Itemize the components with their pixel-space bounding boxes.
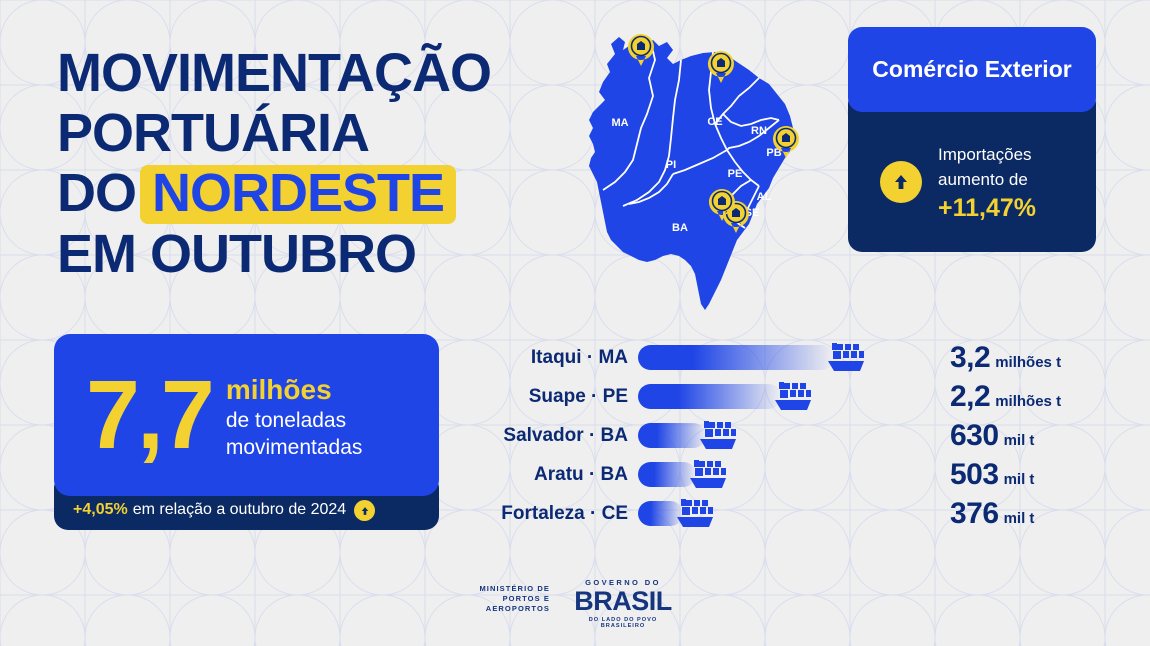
table-row: Itaqui · MA 3,2milhões t <box>480 338 1120 377</box>
svg-text:CE: CE <box>707 116 722 128</box>
northeast-brazil-map: MA PI CE RN PB PE AL SE BA <box>563 22 843 322</box>
tonnage-unit: milhões <box>226 373 363 407</box>
map-states-shape <box>589 36 795 310</box>
port-value-aratu: 503mil t <box>950 458 1130 492</box>
port-bar-suape <box>638 384 781 409</box>
ship-icon <box>771 379 815 413</box>
port-label-fortaleza: Fortaleza · CE <box>480 503 628 525</box>
table-row: Aratu · BA 503mil t <box>480 455 1120 494</box>
port-value-fortaleza: 376mil t <box>950 497 1130 531</box>
ship-icon <box>696 418 740 452</box>
svg-text:BA: BA <box>672 222 688 234</box>
tonnage-footer-percentage: +4,05% <box>73 501 128 519</box>
port-value-number: 630 <box>950 419 999 452</box>
port-label-itaqui: Itaqui · MA <box>480 347 628 369</box>
port-value-number: 2,2 <box>950 380 990 413</box>
ministry-line-3: AEROPORTOS <box>472 604 550 614</box>
port-value-itaqui: 3,2milhões t <box>950 341 1130 375</box>
tonnage-side-text: milhões de toneladas movimentadas <box>226 373 363 461</box>
page-title: MOVIMENTAÇÃO PORTUÁRIA DONORDESTE EM OUT… <box>57 43 491 284</box>
svg-text:PI: PI <box>666 159 676 171</box>
comercio-desc-line-2: aumento de <box>938 170 1028 189</box>
comercio-exterior-card: Importações aumento de +11,47% Comércio … <box>848 27 1096 252</box>
infographic-canvas: MOVIMENTAÇÃO PORTUÁRIA DONORDESTE EM OUT… <box>0 0 1150 646</box>
headline-highlight-nordeste: NORDESTE <box>140 165 456 224</box>
headline-line-4: EM OUTUBRO <box>57 224 491 284</box>
port-bar-track-itaqui <box>638 338 938 377</box>
map-region-fill <box>589 36 795 310</box>
port-value-unit: mil t <box>1004 432 1035 449</box>
tonnage-card-body: 7,7 milhões de toneladas movimentadas <box>54 334 439 496</box>
ship-icon <box>824 340 868 374</box>
headline-line-3: DONORDESTE <box>57 163 491 224</box>
table-row: Suape · PE 2,2milhões t <box>480 377 1120 416</box>
port-value-unit: milhões t <box>995 393 1061 410</box>
port-bar-track-suape <box>638 377 938 416</box>
port-bar-track-fortaleza <box>638 494 938 533</box>
port-bar-itaqui <box>638 345 834 370</box>
port-bar-track-aratu <box>638 455 938 494</box>
governo-brasil-logo: GOVERNO DO BRASIL DO LADO DO POVO BRASIL… <box>568 578 678 629</box>
svg-text:AL: AL <box>757 191 772 203</box>
tonnage-value: 7,7 <box>86 370 212 460</box>
port-value-unit: milhões t <box>995 354 1061 371</box>
port-value-number: 503 <box>950 458 999 491</box>
ministry-line-2: PORTOS E <box>472 594 550 604</box>
port-value-number: 3,2 <box>950 341 990 374</box>
ship-icon <box>673 496 717 530</box>
comercio-exterior-title: Comércio Exterior <box>848 27 1096 112</box>
arrow-up-icon <box>354 500 375 521</box>
comercio-exterior-body: Importações aumento de +11,47% <box>848 90 1096 252</box>
tonnage-card: +4,05% em relação a outubro de 2024 7,7 … <box>54 334 439 530</box>
port-bar-track-salvador <box>638 416 938 455</box>
svg-text:PE: PE <box>728 168 743 180</box>
headline-line-2: PORTUÁRIA <box>57 103 491 163</box>
headline-line-1: MOVIMENTAÇÃO <box>57 43 491 103</box>
gov-logo-main: BRASIL <box>568 587 678 615</box>
tonnage-footer-text: em relação a outubro de 2024 <box>133 501 346 519</box>
port-value-salvador: 630mil t <box>950 419 1130 453</box>
port-value-number: 376 <box>950 497 999 530</box>
table-row: Fortaleza · CE 376mil t <box>480 494 1120 533</box>
headline-line-3-prefix: DO <box>57 163 136 223</box>
port-label-aratu: Aratu · BA <box>480 464 628 486</box>
ministry-logo: MINISTÉRIO DE PORTOS E AEROPORTOS <box>472 584 550 614</box>
svg-text:RN: RN <box>751 125 767 137</box>
port-label-suape: Suape · PE <box>480 386 628 408</box>
svg-text:MA: MA <box>611 117 628 129</box>
ministry-line-1: MINISTÉRIO DE <box>472 584 550 594</box>
ship-icon <box>686 457 730 491</box>
port-value-unit: mil t <box>1004 510 1035 527</box>
ports-ranking-chart: Itaqui · MA 3,2milhões t <box>480 338 1120 534</box>
port-label-salvador: Salvador · BA <box>480 425 628 447</box>
port-value-suape: 2,2milhões t <box>950 380 1130 414</box>
gov-logo-sub: DO LADO DO POVO BRASILEIRO <box>568 617 678 629</box>
comercio-desc-line-1: Importações <box>938 145 1032 164</box>
footer-logos: MINISTÉRIO DE PORTOS E AEROPORTOS GOVERN… <box>472 575 682 625</box>
comercio-exterior-text: Importações aumento de +11,47% <box>938 142 1036 223</box>
tonnage-desc-line-1: de toneladas <box>226 407 363 434</box>
port-value-unit: mil t <box>1004 471 1035 488</box>
tonnage-desc-line-2: movimentadas <box>226 434 363 461</box>
arrow-up-icon <box>880 161 922 203</box>
table-row: Salvador · BA 630mil t <box>480 416 1120 455</box>
comercio-percentage: +11,47% <box>938 193 1036 223</box>
